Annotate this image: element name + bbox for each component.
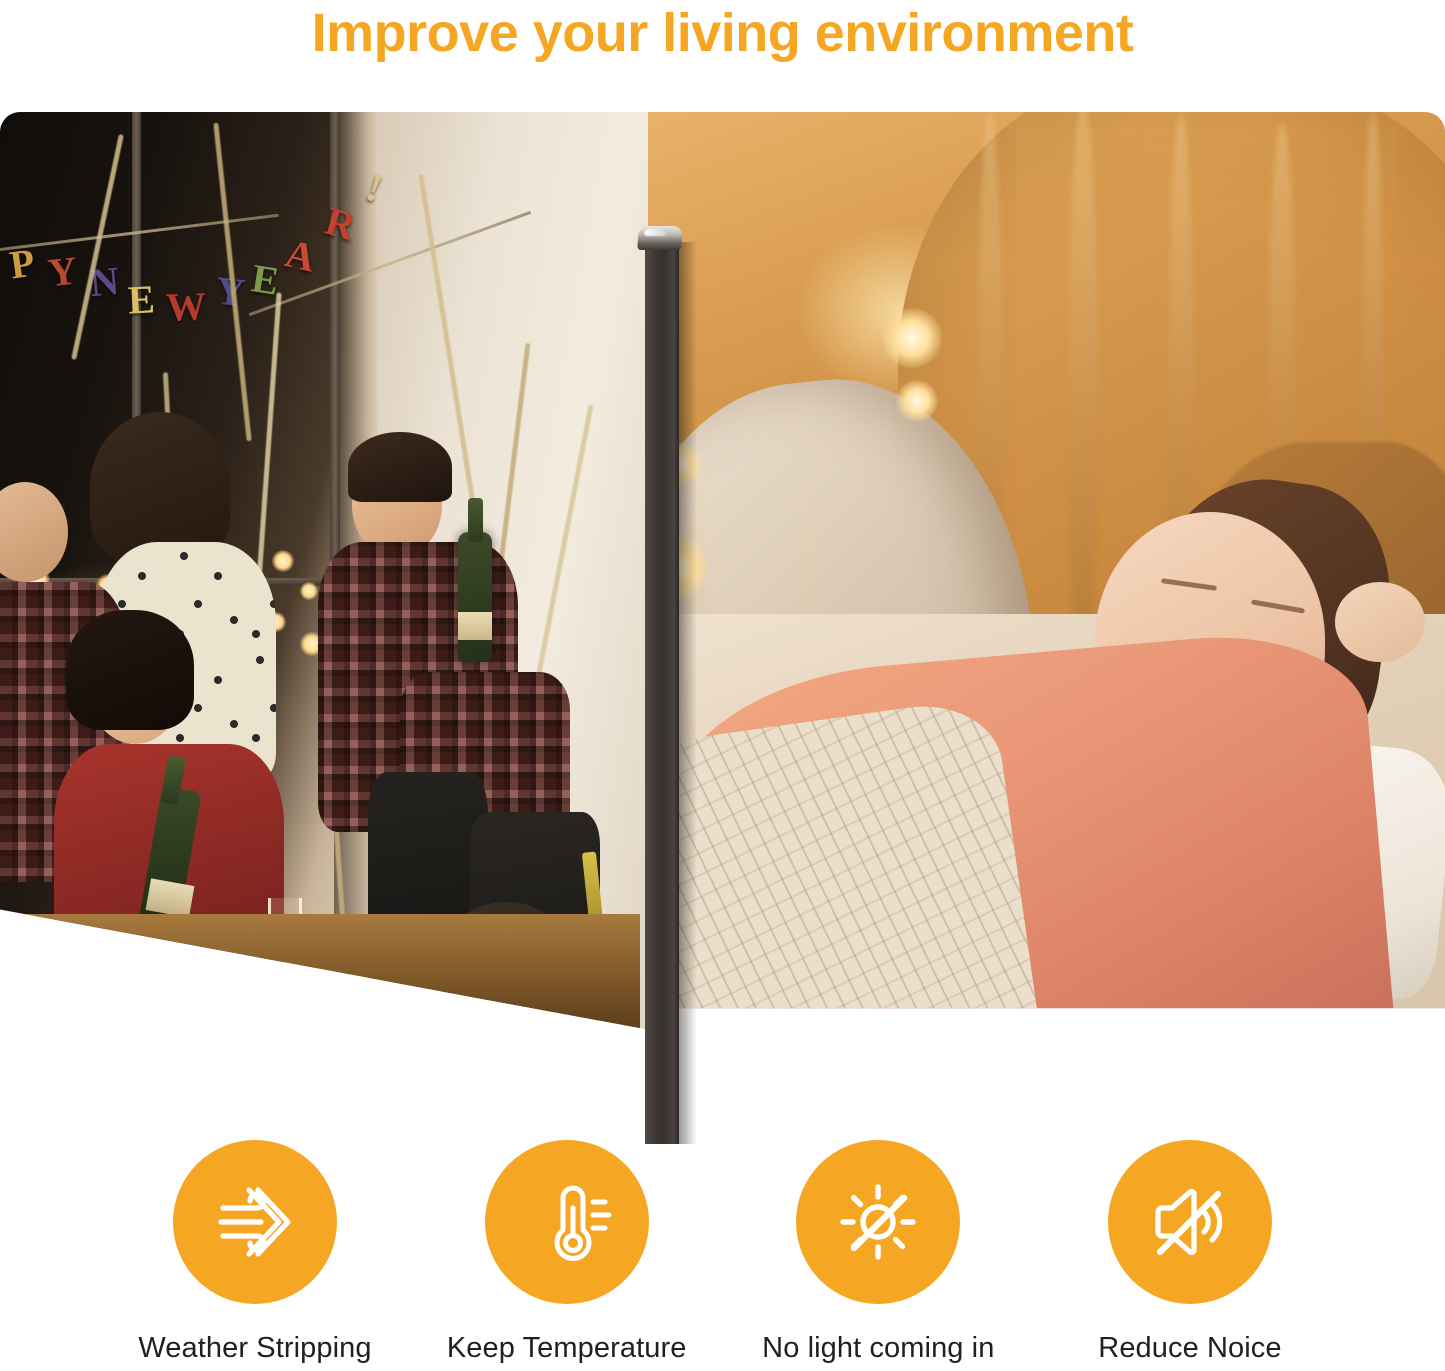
feature-item-no-light[interactable]: No light coming in (733, 1140, 1023, 1365)
thermometer-icon (521, 1176, 613, 1268)
feature-item-keep-temperature[interactable]: Keep Temperature (422, 1140, 712, 1365)
weather-stripping-strip (645, 226, 679, 1144)
new-year-party-photo: P P Y N E W Y E A R ! (0, 112, 648, 1034)
feature-item-reduce-noise[interactable]: Reduce Noice (1045, 1140, 1335, 1365)
mute-speaker-icon (1144, 1176, 1236, 1268)
sleeping-child-photo (648, 112, 1445, 1034)
product-feature-page: Improve your living environment P P Y (0, 0, 1445, 1371)
page-title: Improve your living environment (0, 2, 1445, 64)
no-sun-icon (832, 1176, 924, 1268)
feature-label: Keep Temperature (447, 1332, 687, 1365)
feature-list: Weather Stripping Keep Temperature (0, 1140, 1445, 1371)
feature-icon-circle (173, 1140, 337, 1304)
feature-icon-circle (485, 1140, 649, 1304)
feature-icon-circle (796, 1140, 960, 1304)
feature-icon-circle (1108, 1140, 1272, 1304)
feature-label: Weather Stripping (138, 1332, 371, 1365)
hero-image-block: P P Y N E W Y E A R ! (0, 112, 1445, 1034)
feature-item-weather-stripping[interactable]: Weather Stripping (110, 1140, 400, 1365)
feature-label: Reduce Noice (1098, 1332, 1281, 1365)
feature-label: No light coming in (762, 1332, 994, 1365)
wind-chevron-icon (209, 1176, 301, 1268)
